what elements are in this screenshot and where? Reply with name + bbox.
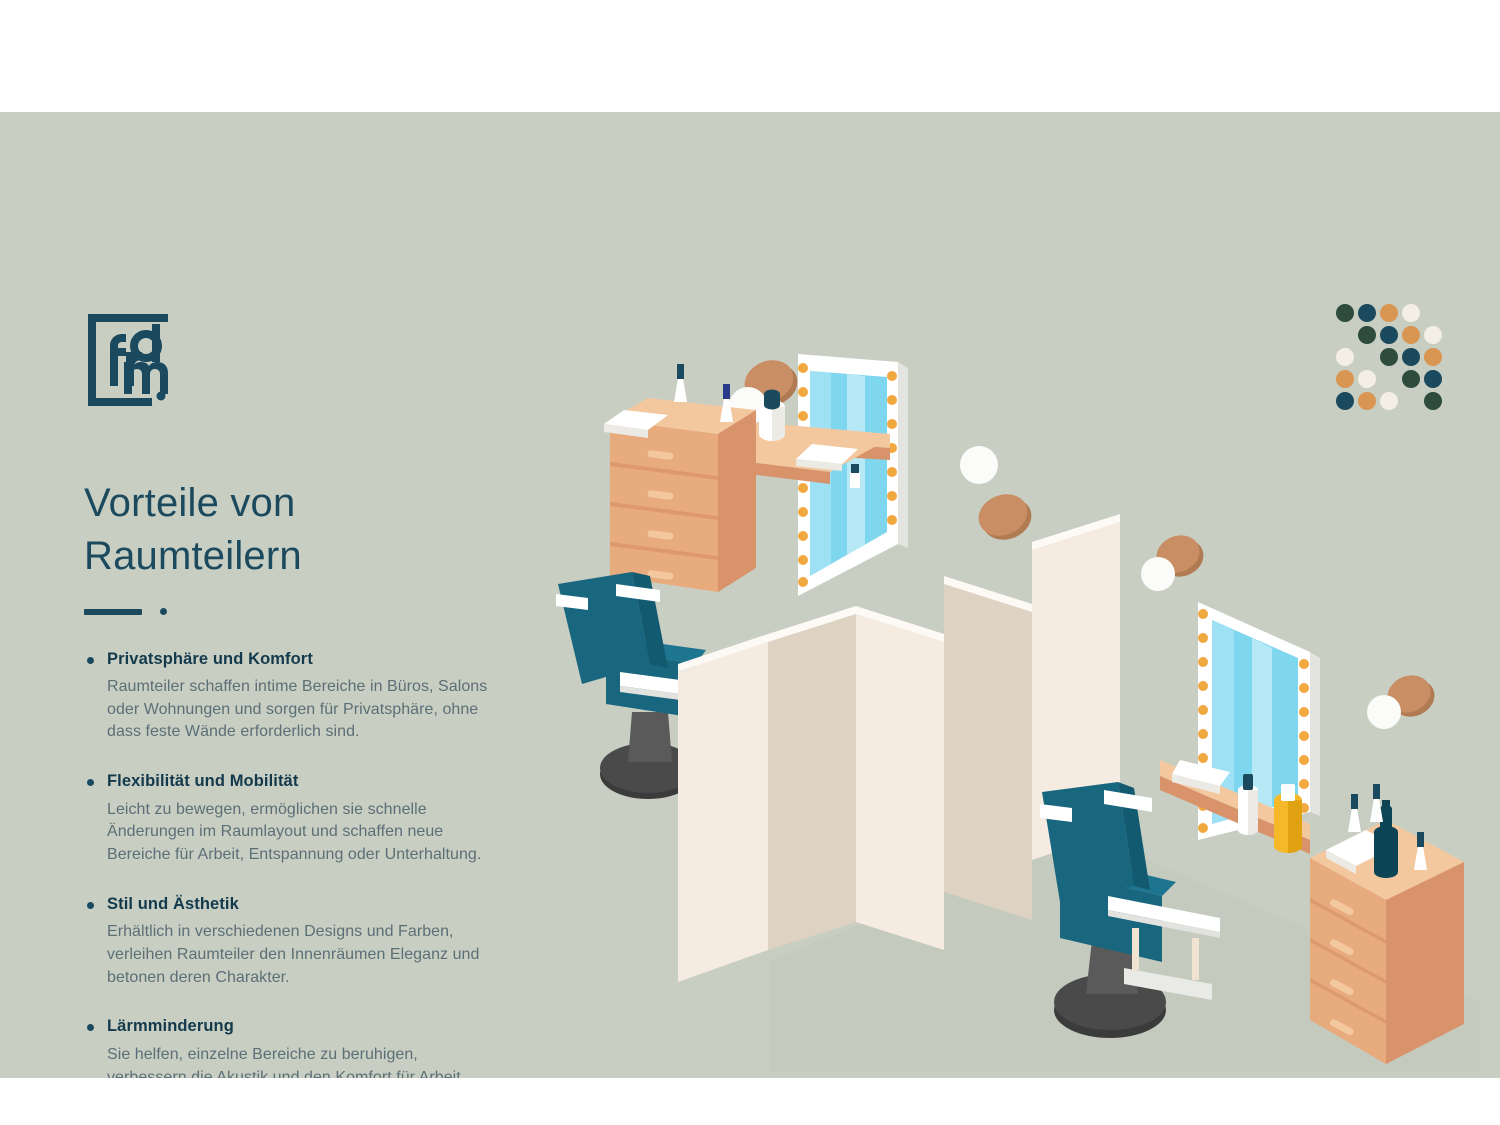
divider-bar: [84, 609, 142, 615]
list-item: Stil und Ästhetik Erhältlich in verschie…: [84, 894, 524, 990]
benefit-heading: Stil und Ästhetik: [107, 894, 524, 915]
divider-dot: [160, 608, 167, 615]
list-item: Privatsphäre und Komfort Raumteiler scha…: [84, 649, 524, 745]
floating-decor-right: [1141, 529, 1209, 591]
benefit-heading: Lärmminderung: [107, 1016, 524, 1037]
benefit-heading: Privatsphäre und Komfort: [107, 649, 524, 670]
left-small-bottle: [850, 464, 860, 488]
benefit-body: Sie helfen, einzelne Bereiche zu beruhig…: [107, 1044, 524, 1078]
bullet-dot-icon: [87, 657, 94, 664]
benefit-body: Leicht zu bewegen, ermöglichen sie schne…: [107, 799, 524, 867]
title-divider: [84, 605, 524, 619]
benefit-body: Raumteiler schaffen intime Bereiche in B…: [107, 676, 524, 744]
isometric-salon-illustration: [520, 172, 1480, 1072]
page-title: Vorteile von Raumteilern: [84, 477, 524, 583]
bullet-dot-icon: [87, 902, 94, 909]
floating-decor-mid: [960, 446, 1038, 547]
text-column: Vorteile von Raumteilern Privatsphäre un…: [84, 477, 524, 1078]
left-dresser-bottle-1: [674, 364, 687, 402]
bullet-dot-icon: [87, 779, 94, 786]
list-item: Flexibilität und Mobilität Leicht zu bew…: [84, 771, 524, 867]
slide-canvas: Vorteile von Raumteilern Privatsphäre un…: [0, 112, 1500, 1078]
right-dresser-bottle-small-2: [1370, 784, 1383, 822]
floating-decor-far-right: [1367, 669, 1440, 729]
frdm-logo[interactable]: [86, 312, 170, 408]
benefit-heading: Flexibilität und Mobilität: [107, 771, 524, 792]
list-item: Lärmminderung Sie helfen, einzelne Berei…: [84, 1016, 524, 1078]
bullet-dot-icon: [87, 1024, 94, 1031]
salon-scene-svg: [520, 172, 1480, 1072]
benefit-body: Erhältlich in verschiedenen Designs und …: [107, 921, 524, 989]
frdm-logo-mark: [86, 312, 170, 408]
right-dresser-bottle-small-1: [1348, 794, 1361, 832]
benefits-list: Privatsphäre und Komfort Raumteiler scha…: [84, 649, 524, 1078]
